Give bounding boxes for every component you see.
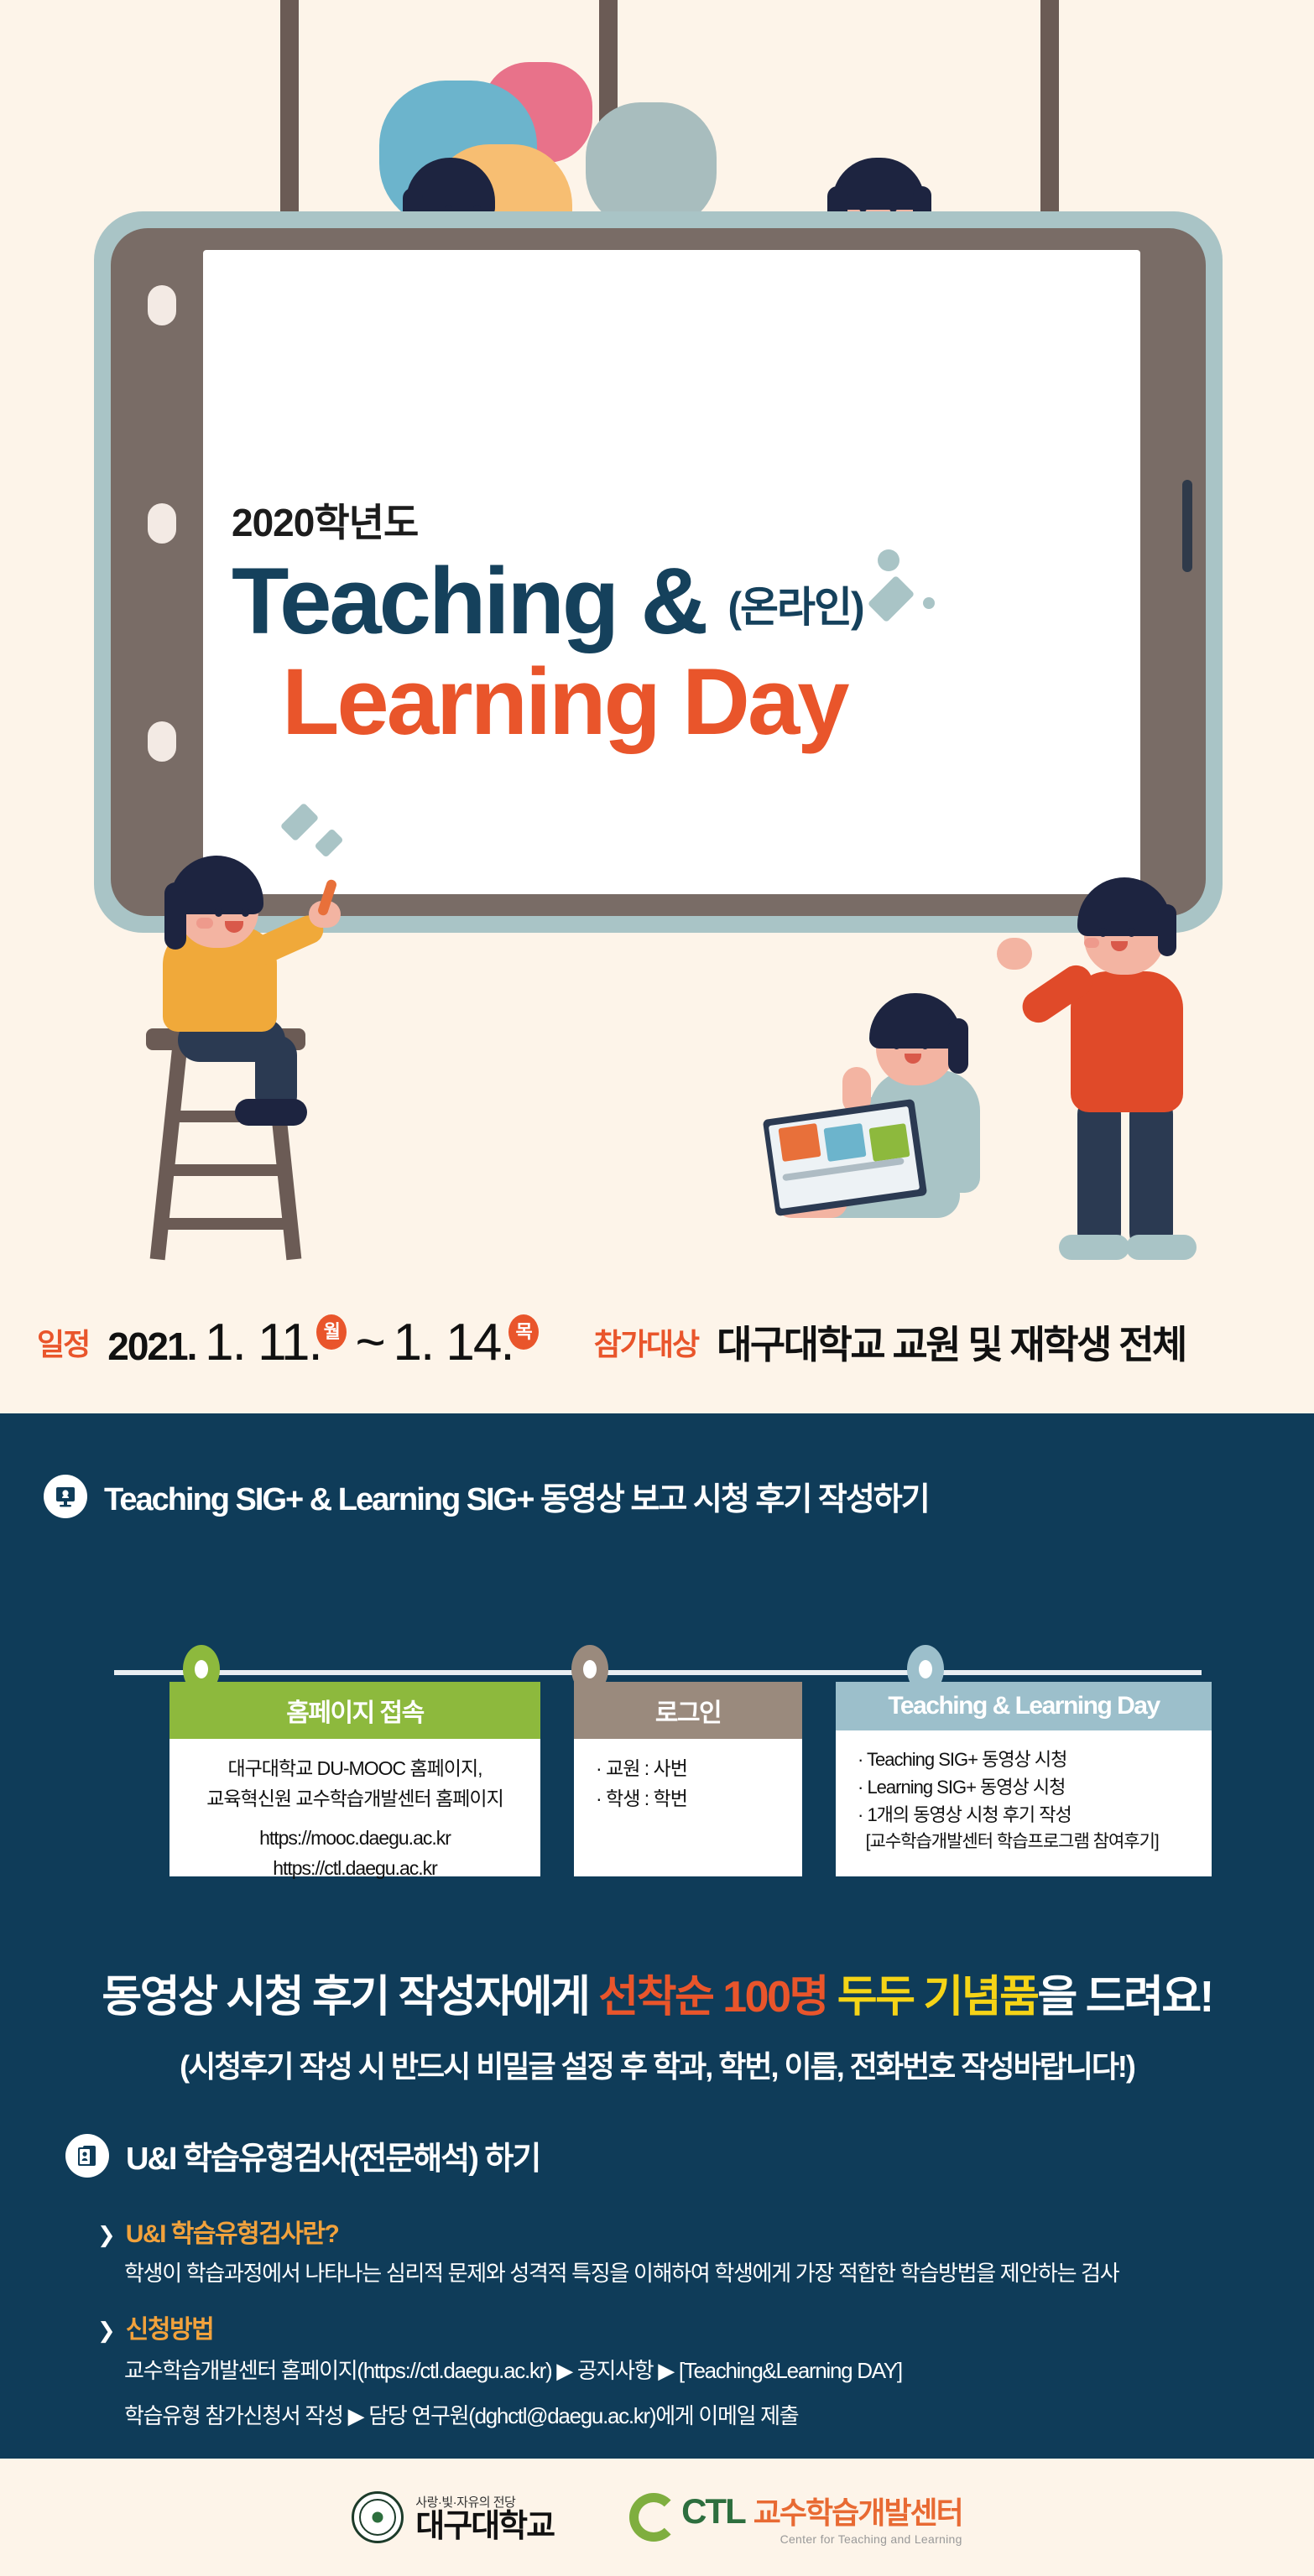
title-line-1: Teaching &	[232, 557, 706, 646]
ctl-abbreviation: CTL	[681, 2491, 745, 2532]
steps-timeline	[114, 1670, 1202, 1675]
ui-item-1: ❯ U&I 학습유형검사란? 학생이 학습과정에서 나타나는 심리적 문제와 성…	[97, 2213, 1255, 2292]
gift-sub-line: (시청후기 작성 시 반드시 비밀글 설정 후 학과, 학번, 이름, 전화번호…	[0, 2043, 1314, 2086]
step-3-line-1: · Learning SIG+ 동영상 시청	[858, 1773, 1202, 1801]
section-2-header: U&I 학습유형검사(전문해석) 하기	[65, 2132, 1240, 2178]
device-dot-2	[148, 503, 176, 544]
step-1-line-1: 교육혁신원 교수학습개발센터 홈페이지	[180, 1784, 530, 1814]
footer-logos: 사랑·빛·자유의 전당 대구대학교 CTL 교수학습개발센터 Center fo…	[0, 2459, 1314, 2576]
gift-text-b: 을 드려요!	[1037, 1973, 1212, 2022]
step-2-body: · 교원 : 사번 · 학생 : 학번	[574, 1739, 802, 1829]
gift-text-orange: 선착순 100명	[598, 1973, 827, 2022]
step-3-header: Teaching & Learning Day	[836, 1682, 1212, 1730]
poster-root: 2020학년도 Teaching & (온라인) Learning Day	[0, 0, 1314, 2576]
ctl-name-korean: 교수학습개발센터	[753, 2489, 962, 2532]
step-2-line-1: · 학생 : 학번	[596, 1784, 792, 1814]
day-badge-start: 월	[316, 1314, 347, 1350]
step-box-2: 로그인 · 교원 : 사번 · 학생 : 학번	[574, 1682, 802, 1876]
step-3-line-0: · Teaching SIG+ 동영상 시청	[858, 1746, 1202, 1773]
device-dot-1	[148, 285, 176, 325]
review-board-icon	[44, 1475, 87, 1518]
device-dot-3	[148, 721, 176, 762]
ctl-name-english: Center for Teaching and Learning	[681, 2532, 962, 2546]
date-tilde: ~	[355, 1314, 383, 1371]
step-box-1: 홈페이지 접속 대구대학교 DU-MOOC 홈페이지, 교육혁신원 교수학습개발…	[169, 1682, 540, 1876]
daegu-university-seal-icon	[352, 2491, 404, 2543]
dark-content-section	[0, 1413, 1314, 2459]
title-block: 2020학년도 Teaching & (온라인) Learning Day	[232, 503, 1121, 747]
person-standing-right	[1004, 871, 1238, 1265]
audience-label: 참가대상	[594, 1320, 698, 1364]
date-end: 1. 14.	[393, 1314, 513, 1371]
ui-item-2-line-0: 교수학습개발센터 홈페이지(https://ctl.daegu.ac.kr) ▶…	[124, 2352, 1255, 2389]
step-1-line-0: 대구대학교 DU-MOOC 홈페이지,	[180, 1754, 530, 1784]
ui-item-2: ❯ 신청방법 교수학습개발센터 홈페이지(https://ctl.daegu.a…	[97, 2308, 1255, 2434]
hero-illustration-area: 2020학년도 Teaching & (온라인) Learning Day	[0, 0, 1314, 1413]
chevron-right-icon: ❯	[97, 2222, 116, 2248]
step-1-body: 대구대학교 DU-MOOC 홈페이지, 교육혁신원 교수학습개발센터 홈페이지 …	[169, 1739, 540, 1899]
section-1-title: Teaching SIG+ & Learning SIG+ 동영상 보고 시청 …	[104, 1473, 929, 1519]
title-year: 2020학년도	[232, 503, 1121, 542]
ctl-ring-icon	[629, 2493, 678, 2542]
gift-announcement: 동영상 시청 후기 작성자에게 선착순 100명 두두 기념품을 드려요! (시…	[0, 1961, 1314, 2086]
ui-item-1-heading-row: ❯ U&I 학습유형검사란?	[97, 2213, 1255, 2250]
step-3-body: · Teaching SIG+ 동영상 시청 · Learning SIG+ 동…	[836, 1730, 1212, 1871]
step-2-line-0: · 교원 : 사번	[596, 1754, 792, 1784]
date-year: 2021.	[107, 1324, 196, 1368]
step-1-header: 홈페이지 접속	[169, 1682, 540, 1739]
ui-item-1-heading: U&I 학습유형검사란?	[126, 2213, 339, 2250]
title-line-2: Learning Day	[282, 658, 1121, 747]
person-on-stool	[97, 854, 349, 1257]
ui-item-2-line-1: 학습유형 참가신청서 작성 ▶ 담당 연구원(dghctl@daegu.ac.k…	[124, 2397, 1255, 2434]
step-1-line-3: https://mooc.daegu.ac.kr	[180, 1824, 530, 1854]
gift-main-line: 동영상 시청 후기 작성자에게 선착순 100명 두두 기념품을 드려요!	[0, 1961, 1314, 2024]
bubble-sage	[586, 102, 717, 228]
step-3-line-3: [교수학습개발센터 학습프로그램 참여후기]	[858, 1829, 1202, 1855]
ctl-logo: CTL 교수학습개발센터 Center for Teaching and Lea…	[629, 2489, 962, 2546]
date-value: 2021. 1. 11.월 ~ 1. 14.목	[107, 1313, 538, 1372]
audience-value: 대구대학교 교원 및 재학생 전체	[717, 1314, 1186, 1370]
step-box-3: Teaching & Learning Day · Teaching SIG+ …	[836, 1682, 1212, 1876]
id-card-icon	[65, 2134, 109, 2178]
ui-item-1-line-0: 학생이 학습과정에서 나타나는 심리적 문제와 성격적 특징을 이해하여 학생에…	[124, 2255, 1255, 2292]
section-1-header: Teaching SIG+ & Learning SIG+ 동영상 보고 시청 …	[44, 1473, 1277, 1519]
university-tagline: 사랑·빛·자유의 전당	[415, 2493, 554, 2511]
date-audience-bar: 일정 2021. 1. 11.월 ~ 1. 14.목 참가대상 대구대학교 교원…	[0, 1296, 1314, 1388]
daegu-university-logo: 사랑·빛·자유의 전당 대구대학교	[352, 2491, 554, 2543]
gift-text-yellow: 두두 기념품	[827, 1973, 1038, 2022]
schedule-label: 일정	[37, 1320, 89, 1364]
step-3-line-2: · 1개의 동영상 시청 후기 작성	[858, 1801, 1202, 1829]
chevron-right-icon-2: ❯	[97, 2318, 116, 2344]
step-1-line-4: https://ctl.daegu.ac.kr	[180, 1854, 530, 1884]
device-side-button	[1182, 480, 1192, 572]
title-online-tag: (온라인)	[727, 574, 863, 646]
date-start: 1. 11.	[205, 1314, 321, 1371]
university-name: 대구대학교	[415, 2511, 554, 2542]
step-2-header: 로그인	[574, 1682, 802, 1739]
ui-item-2-heading-row: ❯ 신청방법	[97, 2308, 1255, 2345]
gift-text-a: 동영상 시청 후기 작성자에게	[102, 1973, 598, 2022]
day-badge-end: 목	[508, 1314, 539, 1350]
ui-item-2-heading: 신청방법	[126, 2308, 213, 2345]
section-2-title: U&I 학습유형검사(전문해석) 하기	[126, 2132, 540, 2178]
